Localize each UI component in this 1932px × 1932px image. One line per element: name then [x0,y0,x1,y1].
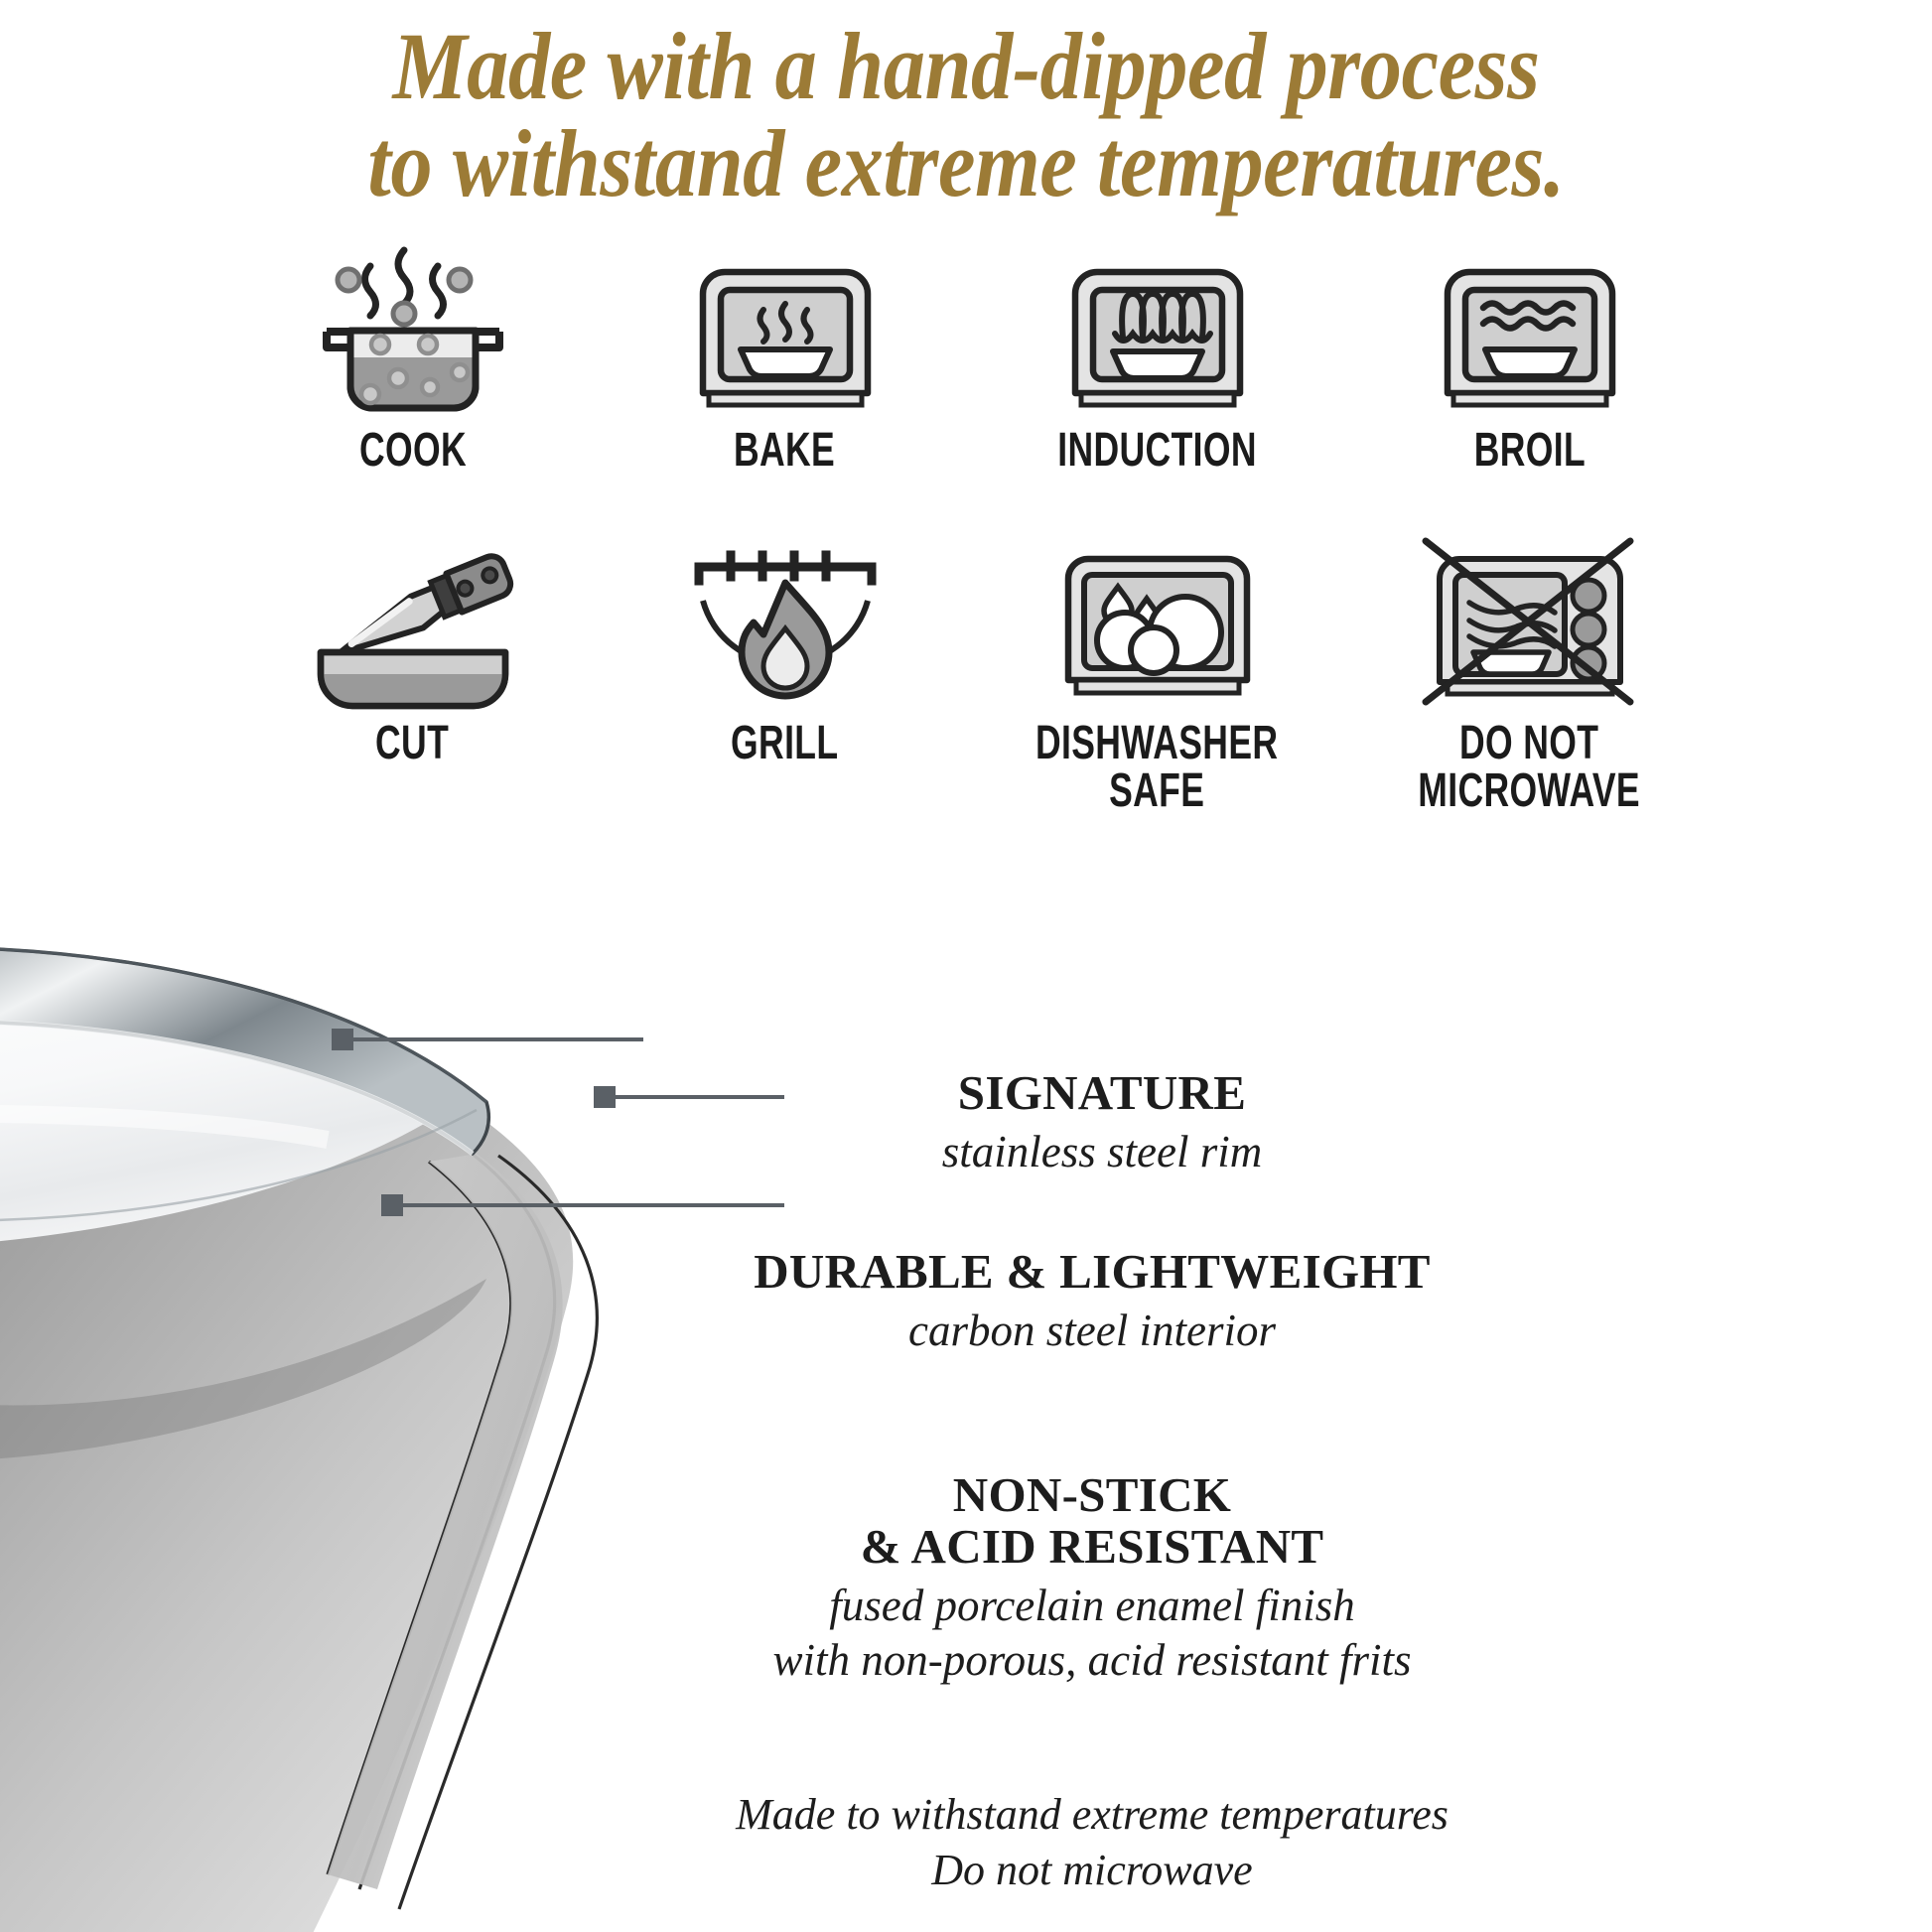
callout-durable: DURABLE & LIGHTWEIGHT carbon steel inter… [655,1246,1529,1358]
callout-signature-subtitle: stainless steel rim [755,1125,1449,1179]
leader-dot-durable [334,1031,351,1048]
leader-dot-nonstick [383,1196,401,1214]
callout-nonstick-subtitle: fused porcelain enamel finish with non-p… [655,1579,1529,1688]
callout-durable-title: DURABLE & LIGHTWEIGHT [655,1246,1529,1298]
leader-dot-signature [596,1088,614,1106]
callout-nonstick-title: NON-STICK & ACID RESISTANT [655,1469,1529,1573]
callout-signature-title: SIGNATURE [755,1067,1449,1119]
infographic-page: Made with a hand-dipped process to withs… [0,0,1932,1932]
callout-durable-subtitle: carbon steel interior [655,1304,1529,1358]
footnote-text: Made to withstand extreme temperatures D… [616,1787,1569,1899]
callout-signature: SIGNATURE stainless steel rim [755,1067,1449,1179]
callout-nonstick: NON-STICK & ACID RESISTANT fused porcela… [655,1469,1529,1688]
